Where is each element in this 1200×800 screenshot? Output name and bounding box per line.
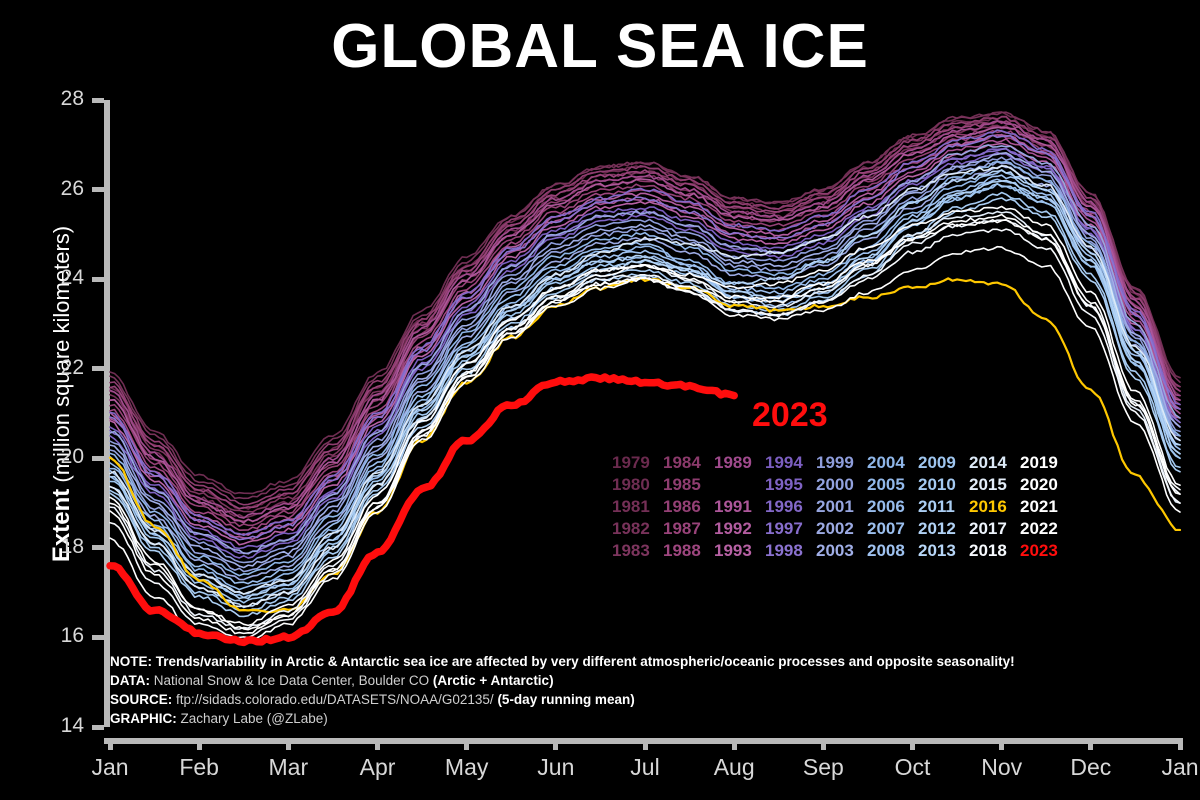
year-legend: 1979198419891994199920042009201420191980…	[612, 452, 1064, 562]
footnote-line: DATA: National Snow & Ice Data Center, B…	[110, 671, 1010, 690]
x-tick-mark	[1178, 738, 1183, 750]
y-tick-mark	[92, 98, 104, 103]
current-year-annotation: 2023	[752, 396, 828, 435]
x-tick-mark	[286, 738, 291, 750]
x-tick-mark	[910, 738, 915, 750]
legend-year-2008[interactable]: 2008	[867, 540, 911, 562]
y-tick-mark	[92, 456, 104, 461]
footnote-label: GRAPHIC:	[110, 711, 177, 726]
footnotes: NOTE: Trends/variability in Arctic & Ant…	[110, 652, 1010, 728]
y-tick-label: 28	[61, 87, 84, 111]
x-tick-label: Feb	[179, 754, 219, 781]
legend-year-2012[interactable]: 2012	[918, 518, 962, 540]
legend-year-1987[interactable]: 1987	[663, 518, 707, 540]
x-tick-label: Sep	[803, 754, 844, 781]
footnote-line: GRAPHIC: Zachary Labe (@ZLabe)	[110, 709, 1010, 728]
legend-year-2009[interactable]: 2009	[918, 452, 962, 474]
legend-year-2021[interactable]: 2021	[1020, 496, 1064, 518]
footnote-line: NOTE: Trends/variability in Arctic & Ant…	[110, 652, 1010, 671]
footnote-text: National Snow & Ice Data Center, Boulder…	[150, 673, 433, 688]
footnote-text: Zachary Labe (@ZLabe)	[177, 711, 328, 726]
legend-year-2020[interactable]: 2020	[1020, 474, 1064, 496]
legend-year-1986[interactable]: 1986	[663, 496, 707, 518]
legend-year-1996[interactable]: 1996	[765, 496, 809, 518]
legend-year-2013[interactable]: 2013	[918, 540, 962, 562]
footnote-suffix: (Arctic + Antarctic)	[433, 673, 554, 688]
legend-year-2011[interactable]: 2011	[918, 496, 962, 518]
legend-year-2003[interactable]: 2003	[816, 540, 860, 562]
x-tick-mark	[553, 738, 558, 750]
legend-year-2016[interactable]: 2016	[969, 496, 1013, 518]
legend-year-1979[interactable]: 1979	[612, 452, 656, 474]
legend-year-1991[interactable]: 1991	[714, 496, 758, 518]
y-tick-label: 26	[61, 177, 84, 201]
legend-year-2014[interactable]: 2014	[969, 452, 1013, 474]
legend-year-2018[interactable]: 2018	[969, 540, 1013, 562]
x-tick-mark	[999, 738, 1004, 750]
x-tick-mark	[108, 738, 113, 750]
series-line	[110, 220, 1180, 644]
x-tick-mark	[821, 738, 826, 750]
legend-year-2017[interactable]: 2017	[969, 518, 1013, 540]
y-tick-mark	[92, 545, 104, 550]
x-tick-label: Jul	[630, 754, 659, 781]
legend-year-1984[interactable]: 1984	[663, 452, 707, 474]
x-tick-label: Dec	[1070, 754, 1111, 781]
legend-year-2019[interactable]: 2019	[1020, 452, 1064, 474]
y-tick-mark	[92, 635, 104, 640]
footnote-suffix: (5-day running mean)	[497, 692, 634, 707]
legend-year-2007[interactable]: 2007	[867, 518, 911, 540]
legend-year-1982[interactable]: 1982	[612, 518, 656, 540]
y-tick-label: 16	[61, 624, 84, 648]
footnote-line: SOURCE: ftp://sidads.colorado.edu/DATASE…	[110, 690, 1010, 709]
legend-year-1988[interactable]: 1988	[663, 540, 707, 562]
x-tick-label: Mar	[269, 754, 309, 781]
x-tick-mark	[732, 738, 737, 750]
x-tick-mark	[464, 738, 469, 750]
series-lines	[110, 100, 1180, 727]
plot-area	[110, 100, 1180, 727]
legend-year-1983[interactable]: 1983	[612, 540, 656, 562]
y-tick-label: 22	[61, 356, 84, 380]
y-tick-mark	[92, 366, 104, 371]
legend-year-2001[interactable]: 2001	[816, 496, 860, 518]
legend-year-2000[interactable]: 2000	[816, 474, 860, 496]
legend-year-1990[interactable]: 1990	[714, 474, 758, 496]
legend-year-2022[interactable]: 2022	[1020, 518, 1064, 540]
x-tick-label: Jan	[91, 754, 128, 781]
legend-year-1998[interactable]: 1998	[765, 540, 809, 562]
x-tick-label: Jun	[537, 754, 574, 781]
footnote-text: ftp://sidads.colorado.edu/DATASETS/NOAA/…	[172, 692, 497, 707]
y-tick-mark	[92, 725, 104, 730]
x-tick-mark	[643, 738, 648, 750]
legend-year-1992[interactable]: 1992	[714, 518, 758, 540]
y-tick-mark	[92, 187, 104, 192]
legend-year-1985[interactable]: 1985	[663, 474, 707, 496]
x-tick-label: Jan	[1161, 754, 1198, 781]
x-tick-mark	[1088, 738, 1093, 750]
footnote-text: Trends/variability in Arctic & Antarctic…	[152, 654, 1015, 669]
x-tick-label: Aug	[714, 754, 755, 781]
legend-year-2005[interactable]: 2005	[867, 474, 911, 496]
x-tick-label: May	[445, 754, 488, 781]
x-tick-mark	[197, 738, 202, 750]
legend-year-1997[interactable]: 1997	[765, 518, 809, 540]
legend-year-1995[interactable]: 1995	[765, 474, 809, 496]
legend-year-1980[interactable]: 1980	[612, 474, 656, 496]
legend-year-1994[interactable]: 1994	[765, 452, 809, 474]
legend-year-1999[interactable]: 1999	[816, 452, 860, 474]
y-tick-label: 24	[61, 266, 84, 290]
footnote-label: NOTE:	[110, 654, 152, 669]
legend-year-1989[interactable]: 1989	[714, 452, 758, 474]
legend-year-2015[interactable]: 2015	[969, 474, 1013, 496]
legend-year-1981[interactable]: 1981	[612, 496, 656, 518]
legend-year-2002[interactable]: 2002	[816, 518, 860, 540]
footnote-label: DATA:	[110, 673, 150, 688]
legend-year-2010[interactable]: 2010	[918, 474, 962, 496]
page-title: GLOBAL SEA ICE	[0, 16, 1200, 78]
chart-figure: GLOBAL SEA ICE Extent (million square ki…	[0, 0, 1200, 800]
footnote-label: SOURCE:	[110, 692, 172, 707]
legend-year-2006[interactable]: 2006	[867, 496, 911, 518]
y-tick-mark	[92, 277, 104, 282]
legend-year-2023[interactable]: 2023	[1020, 540, 1064, 562]
y-tick-label: 14	[61, 714, 84, 738]
y-tick-label: 20	[61, 445, 84, 469]
x-tick-label: Oct	[895, 754, 931, 781]
legend-year-2004[interactable]: 2004	[867, 452, 911, 474]
x-tick-label: Apr	[360, 754, 396, 781]
x-tick-label: Nov	[981, 754, 1022, 781]
y-tick-label: 18	[61, 535, 84, 559]
series-line	[110, 247, 1180, 630]
legend-year-1993[interactable]: 1993	[714, 540, 758, 562]
x-tick-mark	[375, 738, 380, 750]
